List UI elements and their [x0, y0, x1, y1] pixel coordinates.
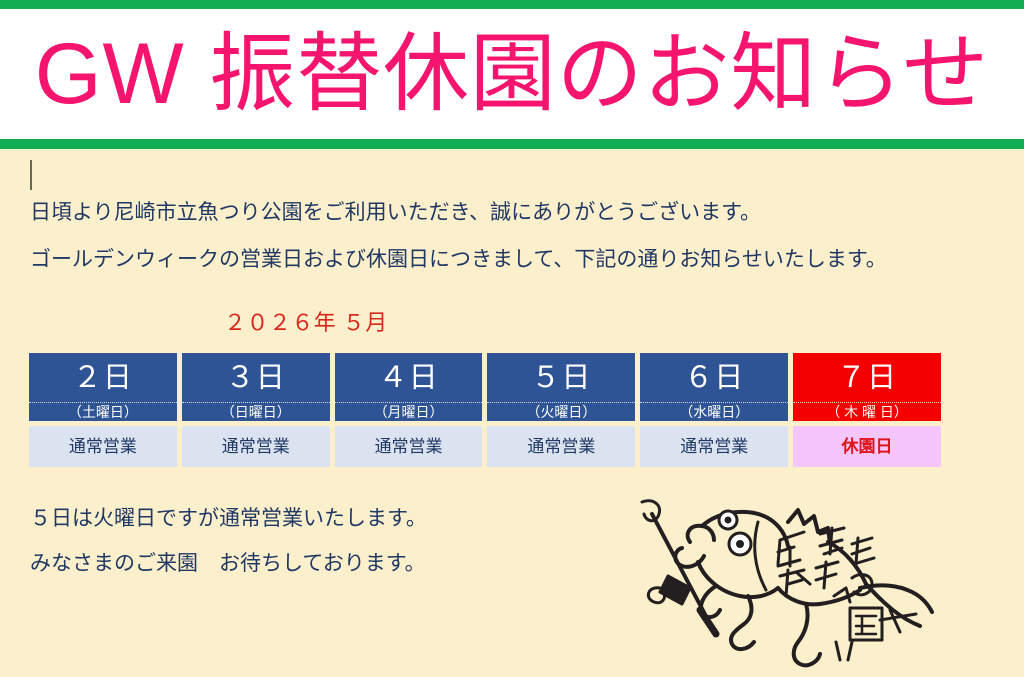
- day-number: ４日: [378, 353, 438, 402]
- status-cell: 通常営業: [182, 426, 330, 467]
- day-of-week: （土曜日）: [68, 405, 138, 419]
- header-rule-top: [0, 0, 1024, 9]
- status-cell: 通常営業: [640, 426, 788, 467]
- day-number: ２日: [73, 353, 133, 402]
- status-cell: 通常営業: [335, 426, 483, 467]
- day-number: ６日: [684, 353, 744, 402]
- day-of-week-wrap: （火曜日）: [487, 402, 635, 421]
- table-header-cell: ６日 （水曜日）: [640, 353, 788, 421]
- status-cell-closed: 休園日: [793, 426, 941, 467]
- header-rule-bottom: [0, 139, 1024, 149]
- day-of-week-wrap: （土曜日）: [29, 402, 177, 421]
- day-of-week: （ 木 曜 日）: [826, 405, 908, 419]
- poster-header: GW 振替休園のお知らせ: [0, 0, 1024, 150]
- fish-mascot-icon: [628, 492, 964, 677]
- table-header-cell: ２日 （土曜日）: [29, 353, 177, 421]
- outro-line-1: ５日は火曜日ですが通常営業いたします。: [30, 508, 427, 529]
- day-of-week-wrap: （日曜日）: [182, 402, 330, 421]
- month-label: ２０２６年 ５月: [224, 312, 388, 334]
- table-header-cell-closed: ７日 （ 木 曜 日）: [793, 353, 941, 421]
- table-column-day-3: ３日 （日曜日） 通常営業: [182, 353, 330, 467]
- day-of-week: （火曜日）: [526, 405, 596, 419]
- day-of-week: （月曜日）: [374, 405, 444, 419]
- text-caret: [30, 160, 32, 190]
- status-cell: 通常営業: [487, 426, 635, 467]
- table-header-cell: ４日 （月曜日）: [335, 353, 483, 421]
- table-column-day-6: ６日 （水曜日） 通常営業: [640, 353, 788, 467]
- table-header-cell: ５日 （火曜日）: [487, 353, 635, 421]
- table-column-day-4: ４日 （月曜日） 通常営業: [335, 353, 483, 467]
- table-column-day-7: ７日 （ 木 曜 日） 休園日: [793, 353, 941, 467]
- status-cell: 通常営業: [29, 426, 177, 467]
- poster-root: GW 振替休園のお知らせ 日頃より尼崎市立魚つり公園をご利用いただき、誠にありが…: [0, 0, 1024, 677]
- table-header-cell: ３日 （日曜日）: [182, 353, 330, 421]
- schedule-table: ２日 （土曜日） 通常営業 ３日 （日曜日） 通常営業 ４日 （月曜日）: [29, 353, 941, 467]
- day-of-week: （日曜日）: [221, 405, 291, 419]
- intro-line-1: 日頃より尼崎市立魚つり公園をご利用いただき、誠にありがとうございます。: [30, 202, 990, 223]
- table-column-day-2: ２日 （土曜日） 通常営業: [29, 353, 177, 467]
- day-of-week-wrap: （ 木 曜 日）: [793, 402, 941, 421]
- day-of-week-wrap: （水曜日）: [640, 402, 788, 421]
- day-number: ５日: [531, 353, 591, 402]
- page-title: GW 振替休園のお知らせ: [0, 9, 1024, 139]
- day-number: ７日: [837, 353, 897, 402]
- outro-line-2: みなさまのご来園 お待ちしております。: [30, 553, 426, 574]
- day-of-week: （水曜日）: [679, 405, 749, 419]
- table-column-day-5: ５日 （火曜日） 通常営業: [487, 353, 635, 467]
- day-number: ３日: [226, 353, 286, 402]
- intro-line-2: ゴールデンウィークの営業日および休園日につきまして、下記の通りお知らせいたします…: [30, 249, 990, 270]
- day-of-week-wrap: （月曜日）: [335, 402, 483, 421]
